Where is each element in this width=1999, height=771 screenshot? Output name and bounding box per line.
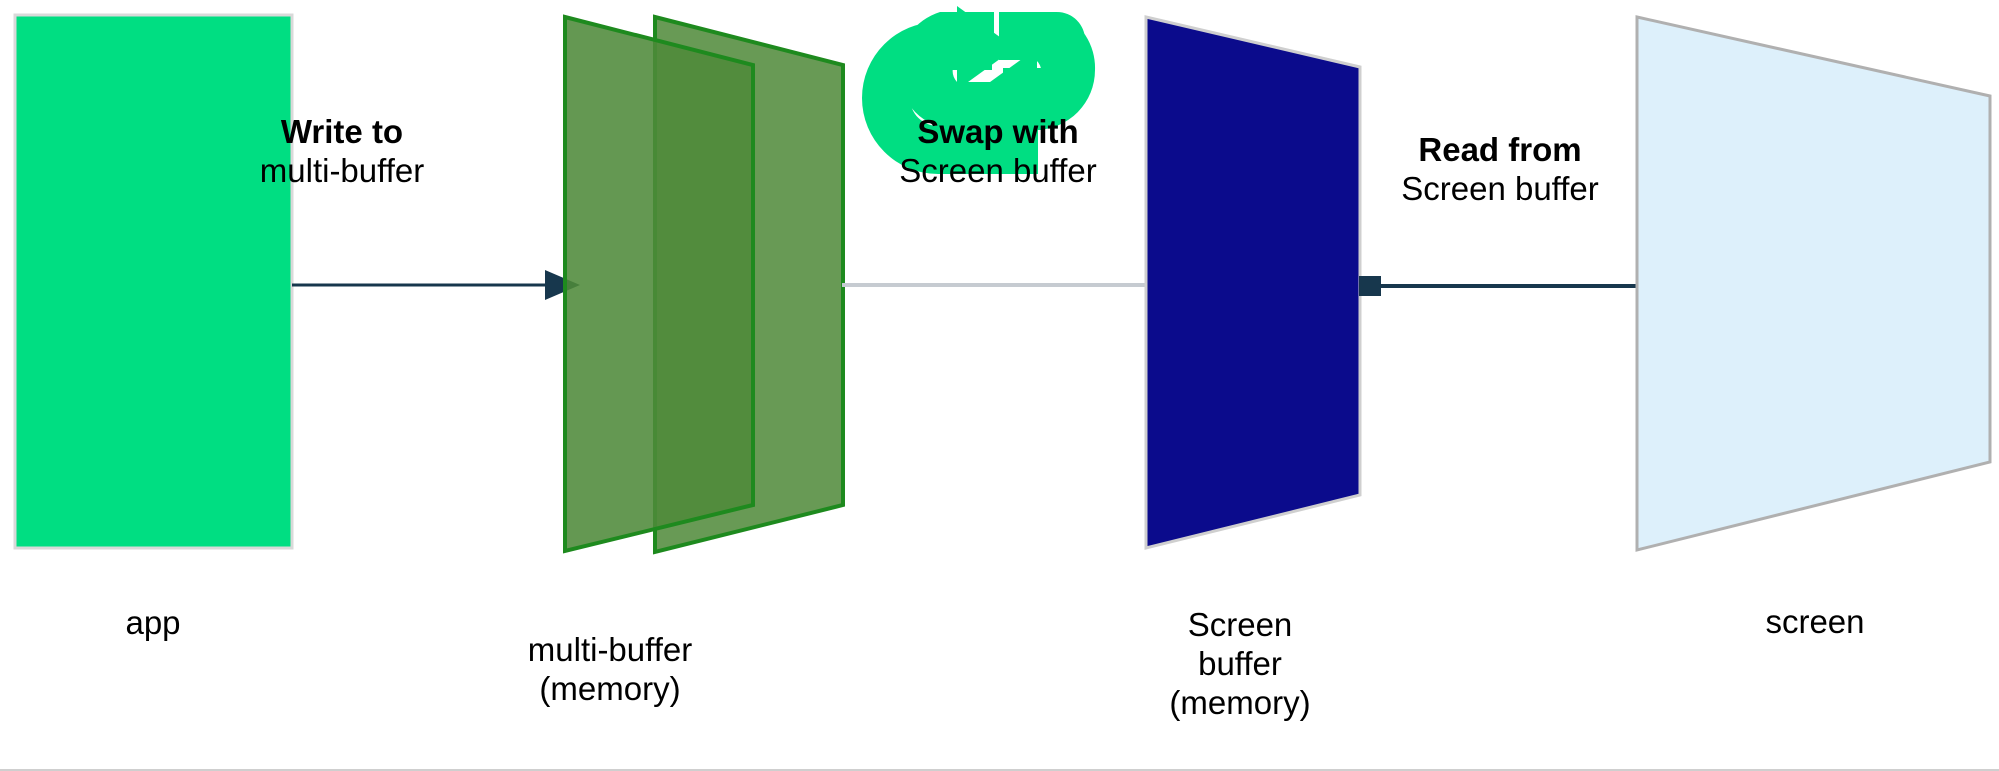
- edge-label-read-subtitle: Screen buffer: [1355, 170, 1645, 209]
- edge-label-read: Read from Screen buffer: [1355, 131, 1645, 209]
- edge-write-arrow[interactable]: [292, 270, 580, 300]
- node-label-screen-buffer: Screen buffer (memory): [1120, 606, 1360, 723]
- edge-label-write-subtitle: multi-buffer: [232, 152, 452, 191]
- edge-label-write: Write to multi-buffer: [232, 113, 452, 191]
- node-screen-shape[interactable]: [1637, 17, 1990, 550]
- node-label-multi-buffer-line1: multi-buffer: [470, 631, 750, 670]
- node-label-screen-text: screen: [1695, 603, 1935, 642]
- edge-read-connector[interactable]: [1359, 276, 1637, 296]
- node-screen-buffer-shape[interactable]: [1146, 17, 1360, 548]
- node-multi-buffer-sheet-front[interactable]: [565, 17, 753, 551]
- edge-label-swap: Swap with Screen buffer: [848, 113, 1148, 191]
- node-app-shape[interactable]: [15, 15, 292, 548]
- node-label-screen: screen: [1695, 603, 1935, 642]
- node-label-multi-buffer-line2: (memory): [470, 670, 750, 709]
- edge-label-swap-title: Swap with: [848, 113, 1148, 152]
- edge-label-write-title: Write to: [232, 113, 452, 152]
- node-label-multi-buffer: multi-buffer (memory): [470, 631, 750, 709]
- node-label-app-text: app: [33, 604, 273, 643]
- edge-label-swap-subtitle: Screen buffer: [848, 152, 1148, 191]
- diagram-canvas: Write to multi-buffer Swap with Screen b…: [0, 0, 1999, 771]
- node-label-screen-buffer-line3: (memory): [1120, 684, 1360, 723]
- edge-label-read-title: Read from: [1355, 131, 1645, 170]
- node-label-screen-buffer-line1: Screen: [1120, 606, 1360, 645]
- node-label-app: app: [33, 604, 273, 643]
- node-label-screen-buffer-line2: buffer: [1120, 645, 1360, 684]
